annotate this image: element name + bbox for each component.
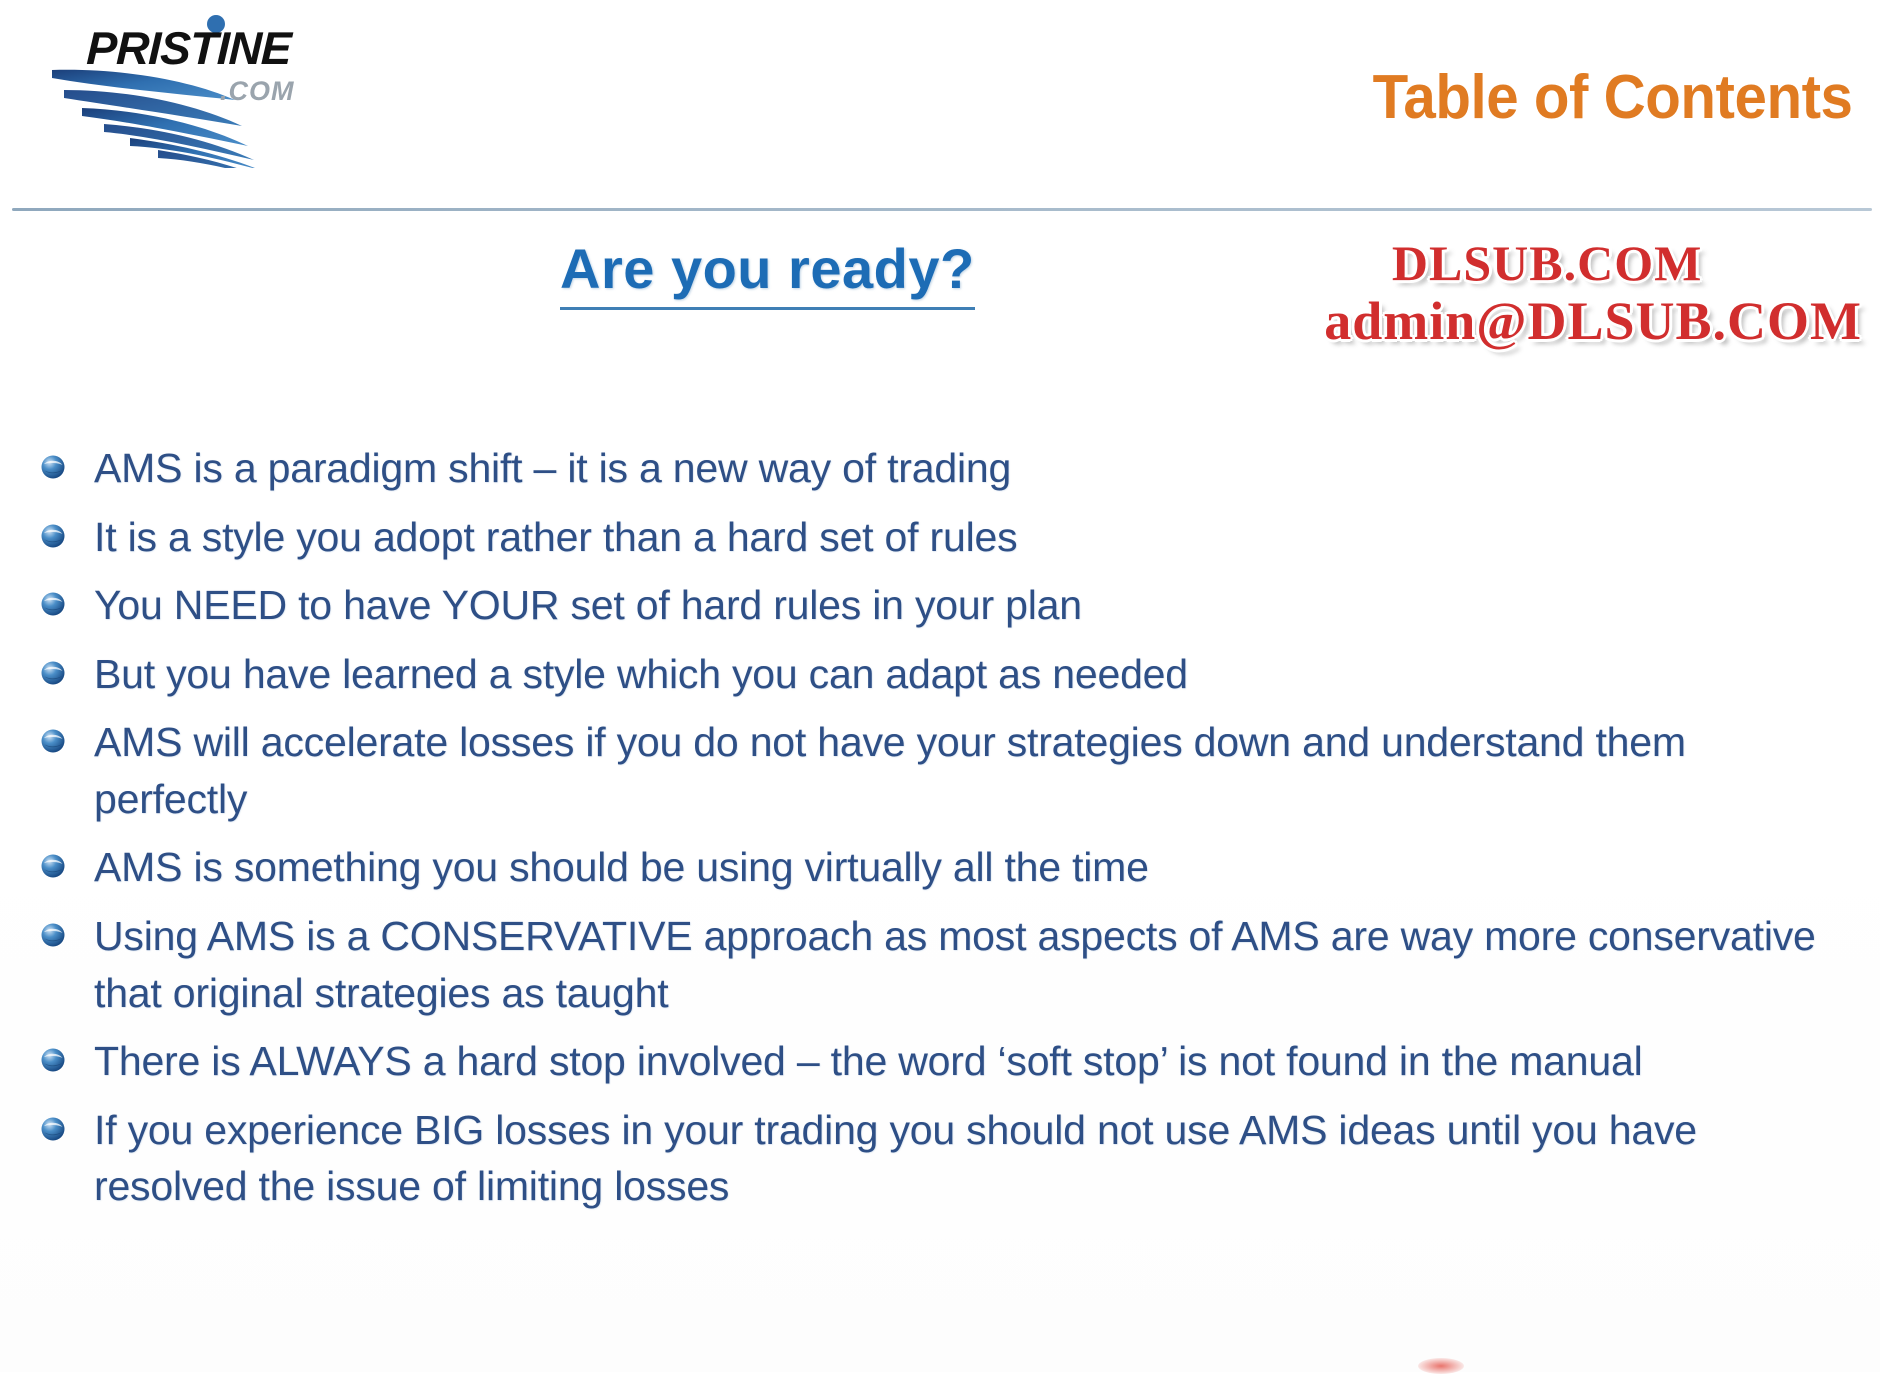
list-item: Using AMS is a CONSERVATIVE approach as … [40,908,1840,1021]
blue-sphere-bullet-icon [40,591,66,617]
blue-sphere-bullet-icon [40,660,66,686]
svg-text:.COM: .COM [220,76,295,106]
list-item-label: It is a style you adopt rather than a ha… [94,509,1840,566]
watermark: DLSUB.COM admin@DLSUB.COM [1324,238,1862,348]
slide-heading-text: Are you ready? [560,236,975,310]
list-item-label: There is ALWAYS a hard stop involved – t… [94,1033,1840,1090]
list-item: AMS is a paradigm shift – it is a new wa… [40,440,1840,497]
pristine-logo: PRISTINE .COM [30,8,390,168]
list-item-label: Using AMS is a CONSERVATIVE approach as … [94,908,1840,1021]
list-item: But you have learned a style which you c… [40,646,1840,703]
list-item-label: AMS is a paradigm shift – it is a new wa… [94,440,1840,497]
list-item-label: AMS is something you should be using vir… [94,839,1840,896]
header-divider [12,208,1872,211]
blue-sphere-bullet-icon [40,922,66,948]
blue-sphere-bullet-icon [40,454,66,480]
bullet-list: AMS is a paradigm shift – it is a new wa… [40,440,1840,1227]
list-item: It is a style you adopt rather than a ha… [40,509,1840,566]
list-item-label: You NEED to have YOUR set of hard rules … [94,577,1840,634]
blue-sphere-bullet-icon [40,728,66,754]
list-item-label: But you have learned a style which you c… [94,646,1840,703]
list-item: AMS will accelerate losses if you do not… [40,714,1840,827]
list-item-label: AMS will accelerate losses if you do not… [94,714,1840,827]
list-item: There is ALWAYS a hard stop involved – t… [40,1033,1840,1090]
list-item: If you experience BIG losses in your tra… [40,1102,1840,1215]
list-item: You NEED to have YOUR set of hard rules … [40,577,1840,634]
list-item-label: If you experience BIG losses in your tra… [94,1102,1840,1215]
slide-heading: Are you ready? [560,236,975,310]
svg-text:PRISTINE: PRISTINE [86,22,294,74]
blue-sphere-bullet-icon [40,1047,66,1073]
blue-sphere-bullet-icon [40,1116,66,1142]
blue-sphere-bullet-icon [40,523,66,549]
page-title: Table of Contents [1372,62,1852,133]
watermark-site: DLSUB.COM [1324,238,1770,288]
watermark-email: admin@DLSUB.COM [1324,294,1862,348]
blue-sphere-bullet-icon [40,853,66,879]
slide-header: PRISTINE .COM Table of Contents [0,0,1880,212]
list-item: AMS is something you should be using vir… [40,839,1840,896]
